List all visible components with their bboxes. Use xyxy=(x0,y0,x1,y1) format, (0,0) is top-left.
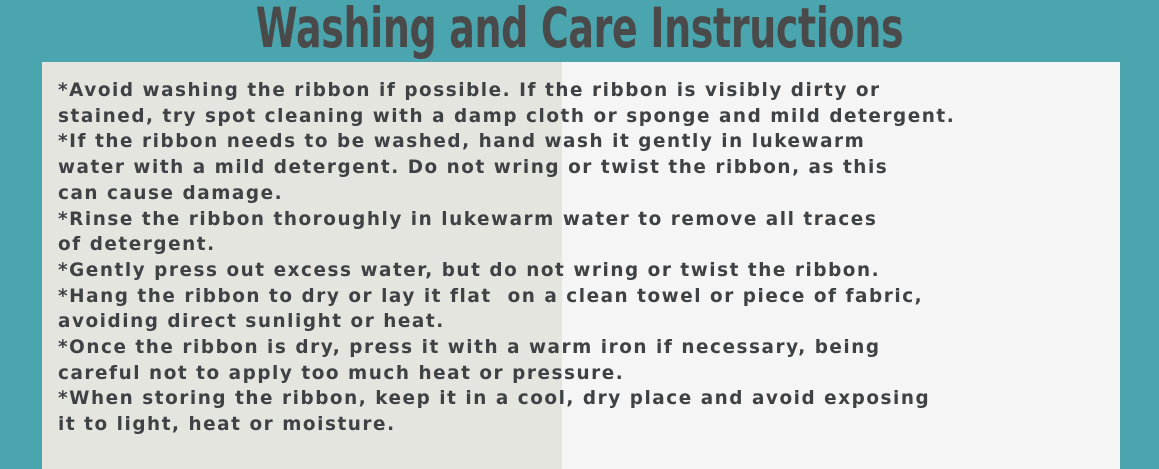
instruction-line: *If the ribbon needs to be washed, hand … xyxy=(58,129,1108,155)
instruction-line: *Rinse the ribbon thoroughly in lukewarm… xyxy=(58,207,1108,233)
instruction-line: *Once the ribbon is dry, press it with a… xyxy=(58,335,1108,361)
instruction-line: stained, try spot cleaning with a damp c… xyxy=(58,104,1108,130)
instruction-line: it to light, heat or moisture. xyxy=(58,412,1108,438)
instruction-line: *Avoid washing the ribbon if possible. I… xyxy=(58,78,1108,104)
instruction-line: of detergent. xyxy=(58,232,1108,258)
instruction-line: water with a mild detergent. Do not wrin… xyxy=(58,155,1108,181)
instruction-line: *When storing the ribbon, keep it in a c… xyxy=(58,386,1108,412)
instruction-line: careful not to apply too much heat or pr… xyxy=(58,361,1108,387)
instructions-card: *Avoid washing the ribbon if possible. I… xyxy=(42,62,1120,469)
poster-root: Washing and Care Instructions *Avoid was… xyxy=(0,0,1159,469)
instruction-line: *Gently press out excess water, but do n… xyxy=(58,258,1108,284)
instruction-line: *Hang the ribbon to dry or lay it flat o… xyxy=(58,284,1108,310)
instructions-text-block: *Avoid washing the ribbon if possible. I… xyxy=(58,78,1108,438)
instruction-line: avoiding direct sunlight or heat. xyxy=(58,309,1108,335)
instruction-line: can cause damage. xyxy=(58,181,1108,207)
page-title: Washing and Care Instructions xyxy=(180,0,980,60)
